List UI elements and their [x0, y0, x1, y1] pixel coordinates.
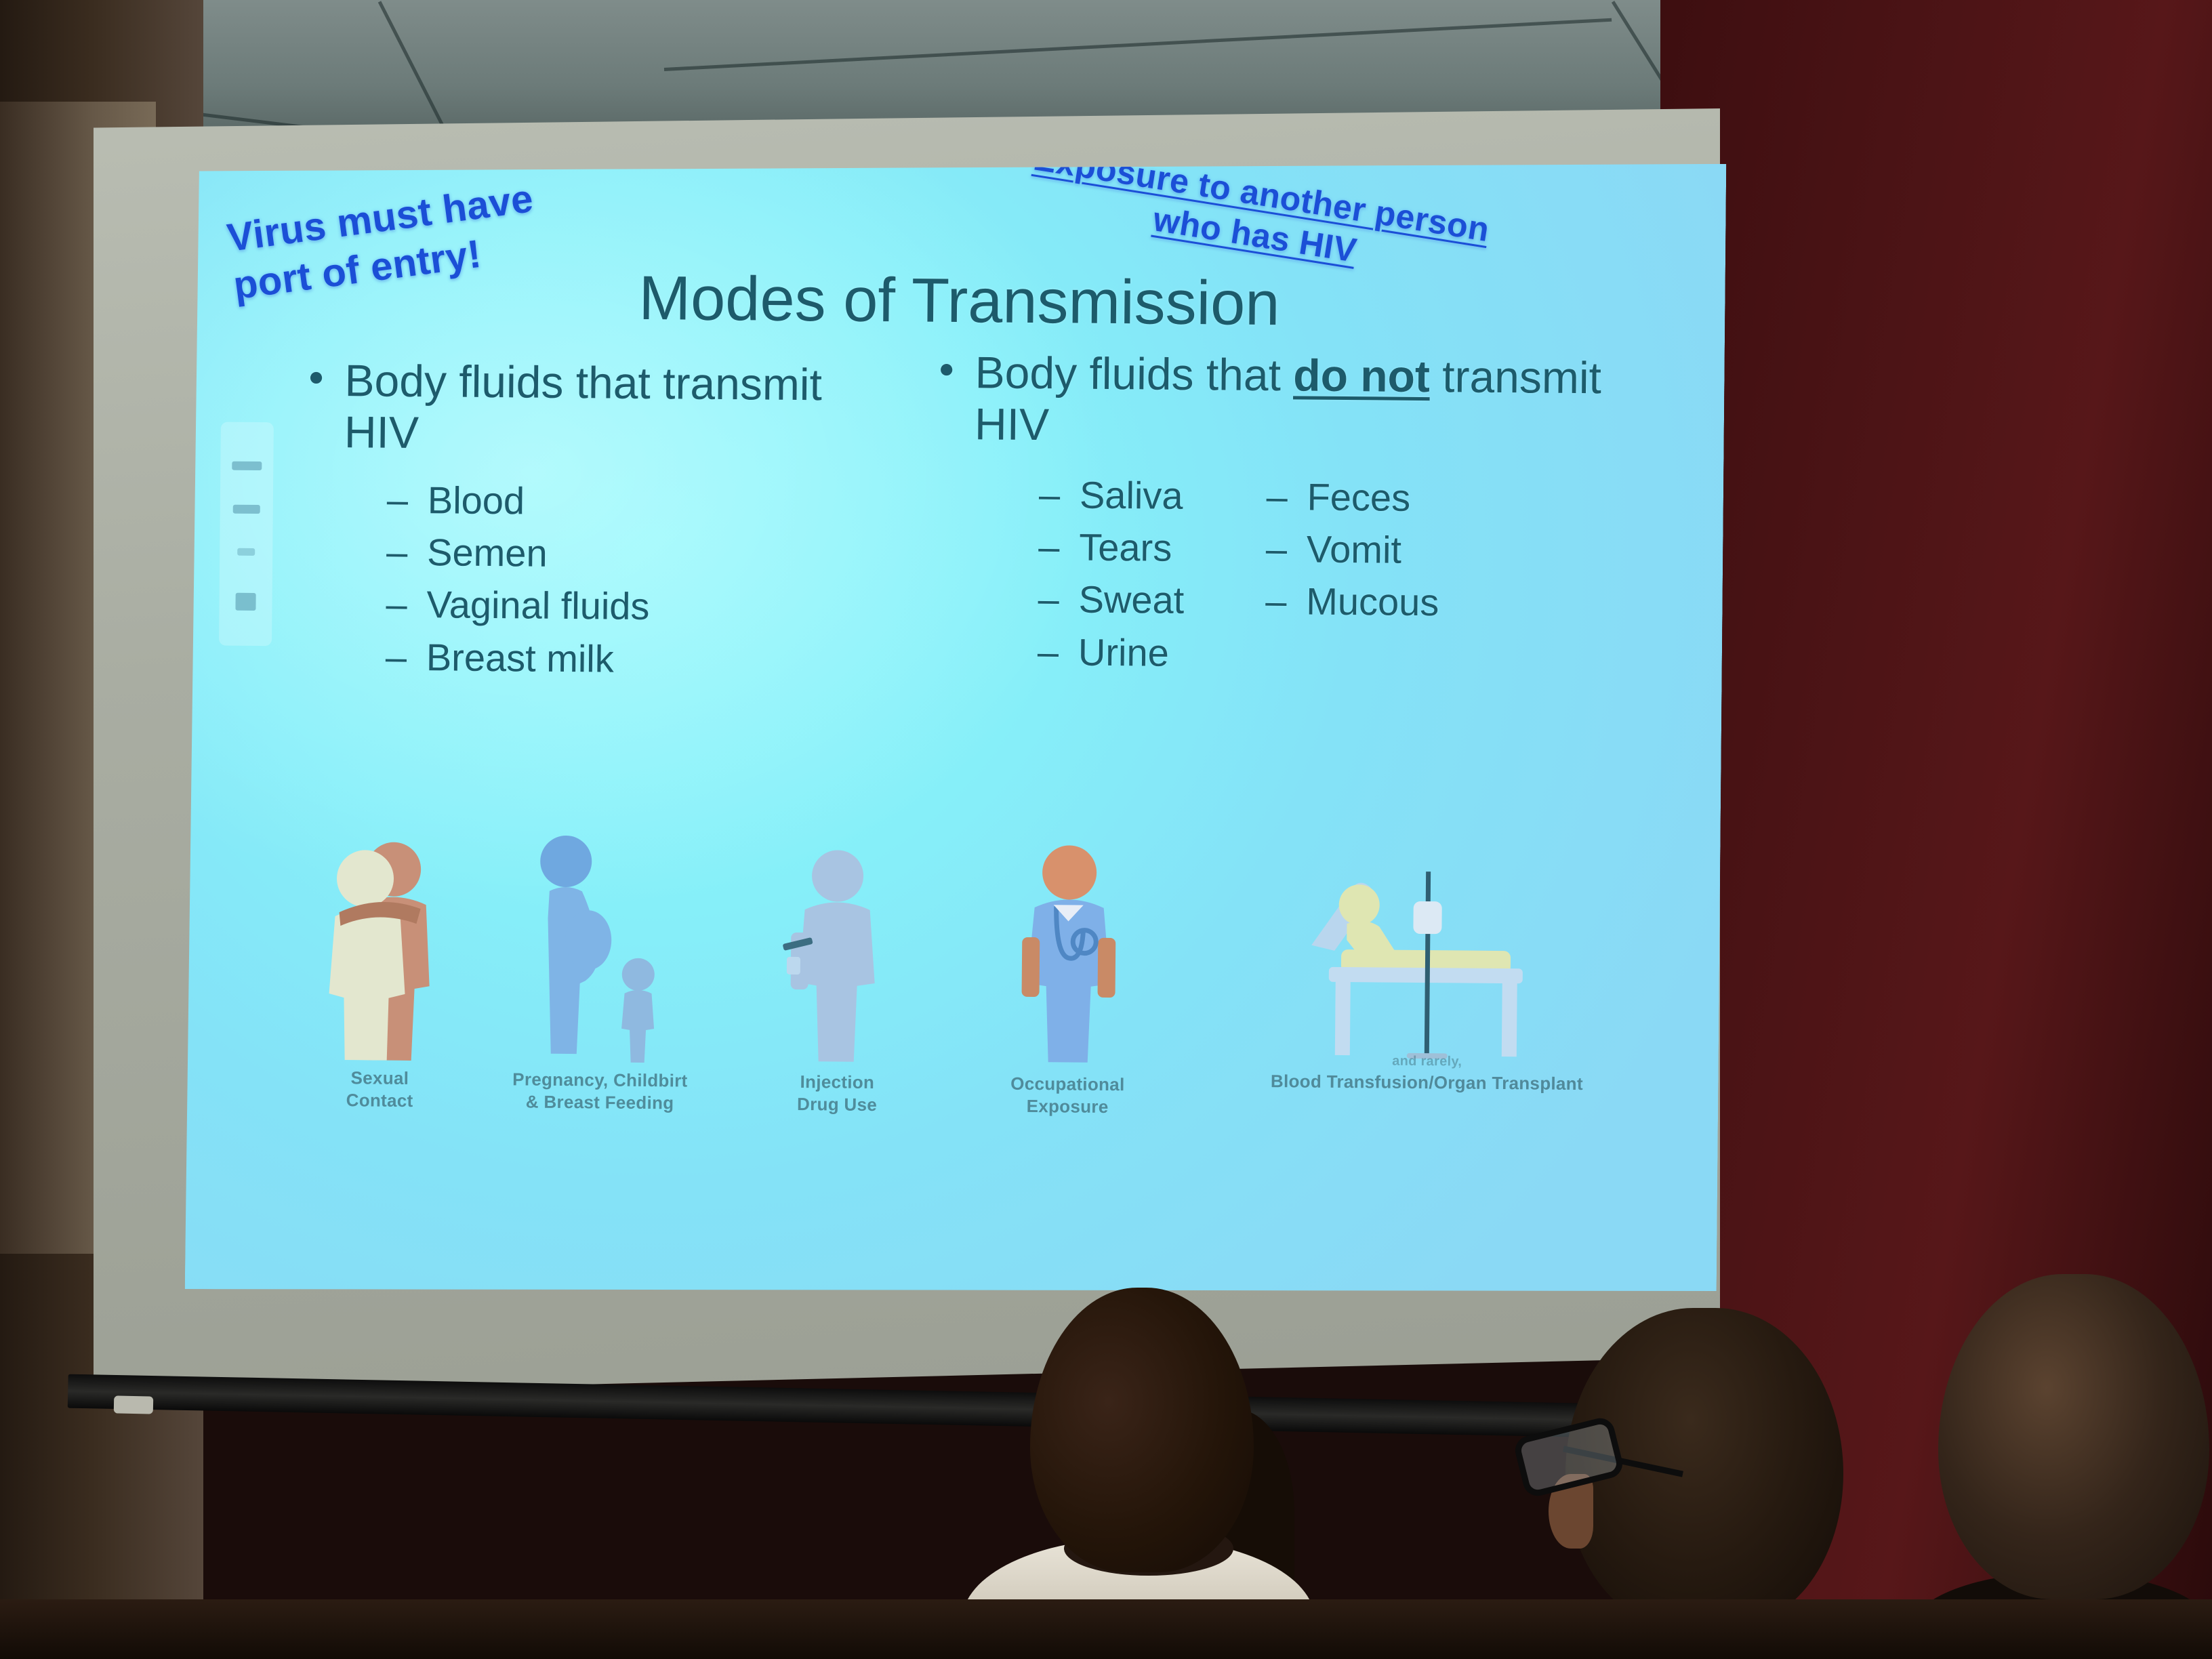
heading-transmitting-fluids-text: Body fluids that transmit HIV: [344, 355, 905, 463]
dash-bullet-icon: –: [386, 578, 409, 631]
list-item-label: Saliva: [1080, 468, 1183, 522]
list-transmitting-fluids: –Blood –Semen –Vaginal fluids –Breast mi…: [386, 473, 904, 687]
dash-bullet-icon: –: [1038, 573, 1061, 626]
floating-presenter-toolbar[interactable]: [219, 422, 274, 647]
list-item-label: Vaginal fluids: [426, 578, 650, 632]
list-item: –Urine: [1038, 626, 1184, 679]
caption-pregnancy: Pregnancy, Childbirt & Breast Feeding: [485, 1068, 716, 1114]
pictogram-pregnancy: Pregnancy, Childbirt & Breast Feeding: [485, 831, 718, 1114]
projected-slide: Virus must have port of entry! Exposure …: [185, 150, 1727, 1303]
dash-bullet-icon: –: [1038, 626, 1061, 678]
classroom-photo: Virus must have port of entry! Exposure …: [0, 0, 2212, 1659]
list-item: –Semen: [386, 526, 903, 583]
dash-bullet-icon: –: [386, 630, 409, 683]
dash-bullet-icon: –: [387, 473, 411, 526]
pen-icon[interactable]: [233, 505, 260, 514]
pictogram-blood-transfusion: and rarely, Blood Transfusion/Organ Tran…: [1216, 857, 1639, 1095]
dash-bullet-icon: –: [1266, 523, 1290, 575]
arrow-right-icon[interactable]: [232, 462, 262, 470]
caption-and-rarely: and rarely,: [1217, 1051, 1637, 1071]
caption-sexual-contact: Sexual Contact: [302, 1067, 458, 1112]
caption-blood-transfusion: Blood Transfusion/Organ Transplant: [1216, 1069, 1637, 1095]
couple-embracing-icon: [319, 836, 443, 1061]
heading-non-transmitting-fluids: ● Body fluids that do not transmit HIV: [938, 347, 1657, 456]
heading-transmitting-fluids: ● Body fluids that transmit HIV: [307, 355, 904, 463]
caption-occupational-exposure: Occupational Exposure: [972, 1072, 1163, 1118]
list-item-label: Blood: [428, 474, 525, 527]
list-item: –Blood: [387, 473, 904, 530]
heading-emphasis: do not: [1293, 350, 1430, 401]
healthcare-worker-icon: [1004, 842, 1134, 1067]
person-with-syringe-icon: [777, 847, 901, 1065]
dash-bullet-icon: –: [1039, 468, 1063, 521]
screen-roller-knob: [114, 1395, 153, 1414]
slide-title: Modes of Transmission: [193, 259, 1725, 344]
list-item: –Vomit: [1266, 523, 1440, 576]
pictogram-strip: Sexual Contact Pregnancy, Childbirt: [185, 828, 1720, 1275]
list-item-label: Urine: [1078, 626, 1169, 678]
list-item-label: Vomit: [1307, 523, 1402, 576]
patient-in-bed-with-iv-icon: [1298, 858, 1558, 1063]
pictogram-sexual-contact: Sexual Contact: [302, 836, 460, 1112]
pictogram-injection-drug-use: Injection Drug Use: [749, 846, 927, 1115]
heading-pre: Body fluids that: [975, 347, 1293, 400]
list-item-label: Mucous: [1306, 575, 1439, 629]
list-item: –Breast milk: [386, 630, 903, 687]
heading-non-transmitting-fluids-text: Body fluids that do not transmit HIV: [975, 347, 1657, 456]
dash-bullet-icon: –: [1266, 470, 1290, 523]
list-item-label: Semen: [427, 526, 548, 579]
dash-bullet-icon: –: [1265, 575, 1289, 628]
list-item: –Mucous: [1265, 575, 1439, 628]
list-item-label: Breast milk: [426, 631, 615, 685]
list-item: –Tears: [1038, 520, 1185, 574]
chevron-down-icon[interactable]: [235, 593, 255, 611]
pictogram-occupational-exposure: Occupational Exposure: [972, 842, 1165, 1118]
list-item-label: Feces: [1307, 470, 1410, 524]
foreground-table-edge: [0, 1599, 2212, 1659]
list-item-label: Sweat: [1078, 573, 1184, 627]
list-item-label: Tears: [1079, 521, 1172, 574]
dash-icon[interactable]: [237, 548, 255, 556]
list-item: –Feces: [1266, 470, 1440, 524]
column-transmitting-fluids: ● Body fluids that transmit HIV –Blood –…: [306, 355, 905, 688]
column-non-transmitting-fluids: ● Body fluids that do not transmit HIV –…: [936, 347, 1657, 683]
list-non-transmitting-col2: –Feces –Vomit –Mucous: [1265, 470, 1440, 681]
list-item: –Saliva: [1039, 468, 1185, 522]
pregnant-woman-and-child-icon: [523, 831, 680, 1063]
caption-injection-drug-use: Injection Drug Use: [749, 1070, 926, 1115]
list-item: –Sweat: [1038, 573, 1184, 626]
dash-bullet-icon: –: [386, 526, 410, 579]
dash-bullet-icon: –: [1038, 520, 1062, 573]
bullet-dot-icon: ●: [307, 355, 324, 458]
bullet-dot-icon: ●: [938, 347, 955, 450]
list-item: –Vaginal fluids: [386, 578, 903, 635]
list-non-transmitting-col1: –Saliva –Tears –Sweat –Urine: [1038, 468, 1185, 679]
